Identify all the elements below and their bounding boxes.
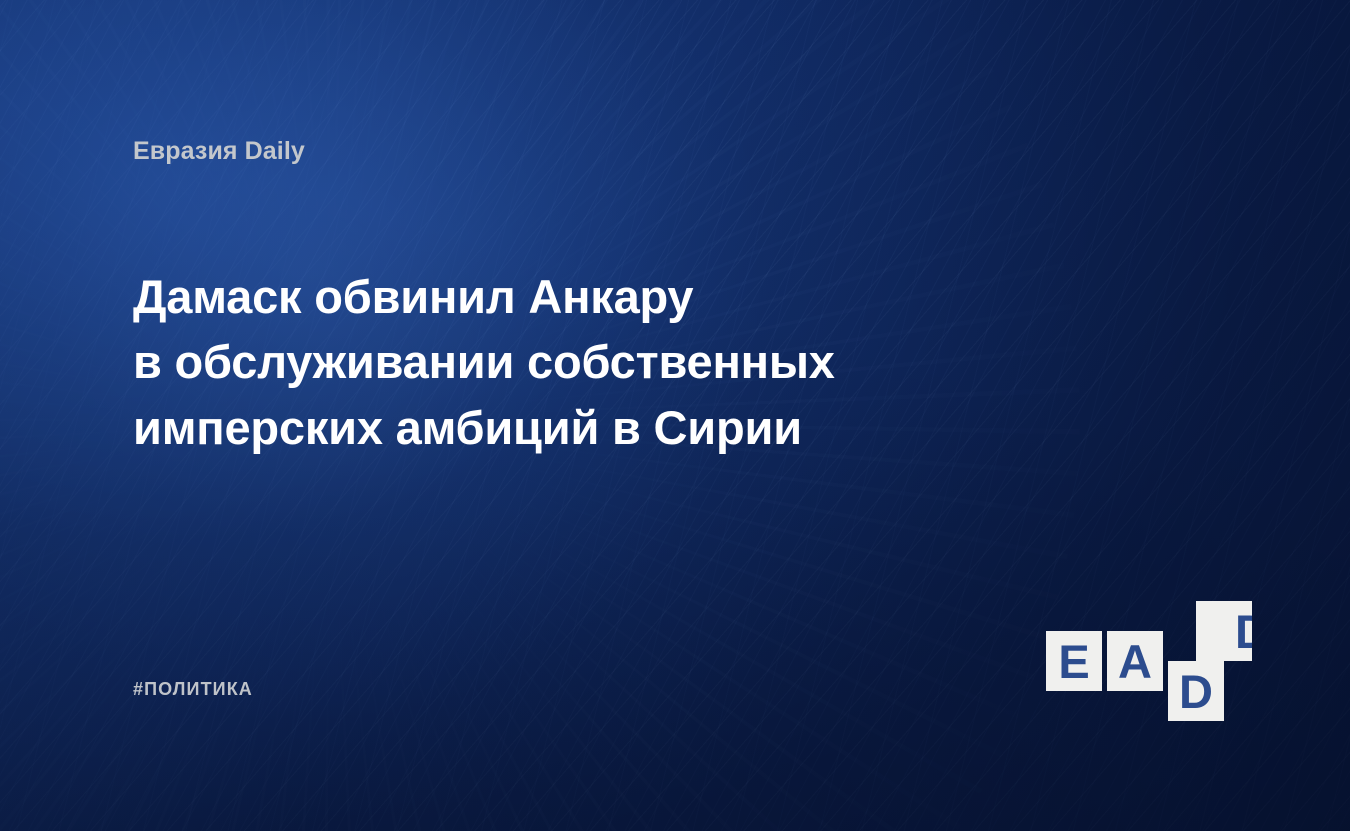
logo-letter-a: A [1107,631,1163,691]
logo-letter-d-lower: D [1168,661,1224,721]
headline-line-1: Дамаск обвинил Анкару [133,264,1013,329]
logo-tile-a: A [1107,631,1163,691]
brand-title: Евразия Daily [133,137,305,166]
logo-letter-d-upper: D [1224,601,1252,661]
logo-tile-d-upper: D [1196,601,1252,661]
logo-letter-e: E [1046,631,1102,691]
headline: Дамаск обвинил Анкару в обслуживании соб… [133,264,1013,460]
headline-line-3: имперских амбиций в Сирии [133,395,1013,460]
category-tag: #ПОЛИТИКА [133,679,253,700]
ead-logo: E A D D [1046,631,1226,691]
headline-line-2: в обслуживании собственных [133,329,1013,394]
logo-tile-e: E [1046,631,1102,691]
card-content: Евразия Daily Дамаск обвинил Анкару в об… [0,0,1350,831]
logo-tile-d-lower: D [1168,661,1224,721]
news-share-card: Евразия Daily Дамаск обвинил Анкару в об… [0,0,1350,831]
